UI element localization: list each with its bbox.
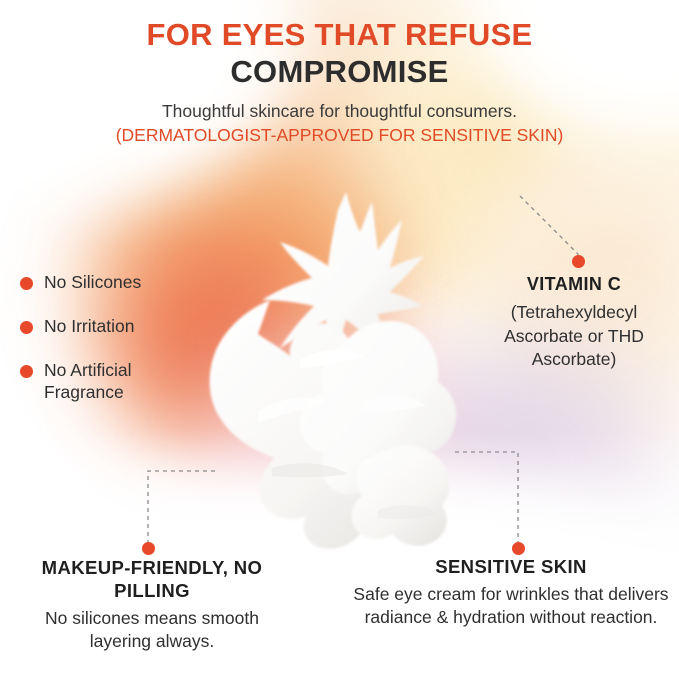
callout-title: SENSITIVE SKIN <box>352 556 670 578</box>
headline-line-2: COMPROMISE <box>0 55 679 90</box>
bullet-dot-icon <box>20 365 33 378</box>
bullet-label: No Silicones <box>44 272 141 294</box>
bullet-dot-icon <box>20 321 33 334</box>
list-item: No Silicones <box>20 272 220 294</box>
product-infographic: FOR EYES THAT REFUSE COMPROMISE Thoughtf… <box>0 0 679 679</box>
subtitle-primary: Thoughtful skincare for thoughtful consu… <box>0 101 679 122</box>
bullet-label: No Irritation <box>44 316 134 338</box>
headline-line-1: FOR EYES THAT REFUSE <box>0 18 679 53</box>
headline-block: FOR EYES THAT REFUSE COMPROMISE Thoughtf… <box>0 18 679 146</box>
callout-title: MAKEUP-FRIENDLY, NO PILLING <box>18 556 286 602</box>
callout-makeup-friendly: MAKEUP-FRIENDLY, NO PILLING No silicones… <box>18 556 286 653</box>
bullet-label: No Artificial Fragrance <box>44 360 132 404</box>
callout-sensitive-skin: SENSITIVE SKIN Safe eye cream for wrinkl… <box>352 556 670 629</box>
list-item: No Artificial Fragrance <box>20 360 220 404</box>
callout-body: (Tetrahexyldecyl Ascorbate or THD Ascorb… <box>474 301 674 372</box>
marker-dot-sensitive <box>512 542 525 555</box>
callout-body: Safe eye cream for wrinkles that deliver… <box>352 583 670 629</box>
subtitle-secondary: (DERMATOLOGIST-APPROVED FOR SENSITIVE SK… <box>0 125 679 146</box>
marker-dot-vitamin-c <box>572 255 585 268</box>
bullet-dot-icon <box>20 277 33 290</box>
callout-title: VITAMIN C <box>474 274 674 295</box>
callout-vitamin-c: VITAMIN C (Tetrahexyldecyl Ascorbate or … <box>474 274 674 372</box>
callout-body: No silicones means smooth layering alway… <box>18 607 286 653</box>
benefit-bullet-list: No Silicones No Irritation No Artificial… <box>20 272 220 426</box>
marker-dot-makeup <box>142 542 155 555</box>
list-item: No Irritation <box>20 316 220 338</box>
